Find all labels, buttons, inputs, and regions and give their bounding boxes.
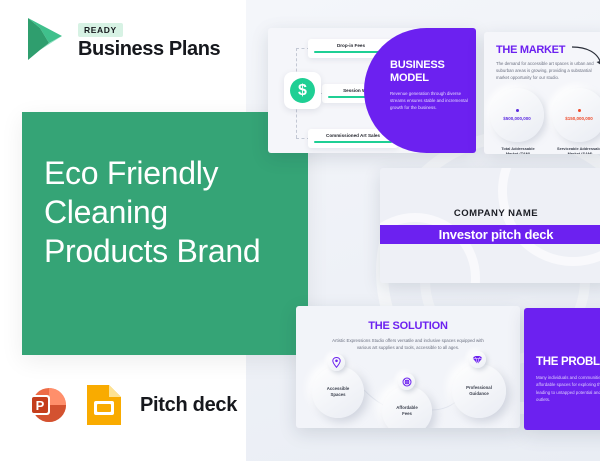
page-title: Eco Friendly Cleaning Products Brand (44, 154, 324, 271)
format-badges: P Pitch deck (24, 382, 237, 428)
slide-body: Revenue generation through diverse strea… (390, 90, 470, 111)
play-triangle-logo-icon (22, 14, 68, 64)
pitch-deck-title: Investor pitch deck (439, 227, 554, 242)
brand-logo[interactable]: READY Business Plans (22, 14, 220, 64)
slide-card-the-problem[interactable]: THE PROBLEM Many individuals and communi… (524, 308, 600, 430)
metric-dot-icon (578, 109, 581, 112)
slide-heading: THE PROBLEM (536, 356, 600, 368)
solution-nodes: Accessible Spaces Affordable Fees Profes… (308, 360, 508, 426)
card-shadow-layer (524, 311, 600, 430)
solution-node: Affordable Fees (382, 386, 432, 428)
slide-heading: THE MARKET (496, 44, 565, 56)
slide-card-the-solution[interactable]: THE SOLUTION Artistic Expressions Studio… (296, 306, 520, 428)
metric-caption: Serviceable Addressable Market (SAM) (552, 146, 600, 154)
pitch-deck-band: Investor pitch deck (380, 225, 600, 244)
svg-text:P: P (36, 398, 45, 413)
diamond-gem-icon (469, 351, 486, 368)
dollar-sign-icon: $ (284, 72, 321, 109)
company-name: COMPANY NAME (380, 208, 600, 219)
market-metric: $150,000,000 Serviceable Addressable Mar… (552, 88, 600, 154)
slide-body: Many individuals and communities lack ac… (536, 374, 600, 404)
node-label: Professional Guidance (466, 385, 492, 397)
slide-heading: BUSINESS MODEL (390, 59, 470, 85)
brand-logo-text: READY Business Plans (78, 18, 220, 60)
metric-value: $500,000,000 (503, 116, 531, 121)
slide-body: The demand for accessible art spaces in … (496, 60, 596, 81)
item-label: Commissioned Art Sales (314, 133, 392, 138)
slide-heading: THE SOLUTION (296, 320, 520, 332)
node-label: Accessible Spaces (327, 386, 349, 398)
poster-canvas: READY Business Plans Eco Friendly Cleani… (0, 0, 600, 461)
powerpoint-icon: P (24, 382, 70, 428)
metric-dot-icon (516, 109, 519, 112)
slide-card-business-model[interactable]: Drop-in Fees Session Workshops Commissio… (268, 28, 476, 153)
hero-panel: Eco Friendly Cleaning Products Brand (22, 112, 308, 355)
item-label: Drop-in Fees (314, 43, 388, 48)
slide-card-the-market[interactable]: THE MARKET The demand for accessible art… (484, 32, 600, 154)
format-label: Pitch deck (140, 394, 237, 417)
metric-value: $150,000,000 (565, 116, 593, 121)
market-metric: $500,000,000 Total Addressable Market (T… (490, 88, 546, 154)
market-metrics: $500,000,000 Total Addressable Market (T… (490, 88, 600, 154)
slide-card-investor-pitch[interactable]: COMPANY NAME Investor pitch deck (380, 168, 600, 283)
location-pin-icon (328, 354, 345, 371)
solution-node: Professional Guidance (452, 364, 506, 418)
slide-body: Artistic Expressions Studio offers versa… (332, 337, 484, 352)
metric-caption: Total Addressable Market (TAM) (490, 146, 546, 154)
ready-badge: READY (78, 23, 123, 37)
node-label: Affordable Fees (396, 405, 418, 417)
brand-name: Business Plans (78, 39, 220, 60)
target-circle-icon (398, 373, 415, 390)
decorative-ring (380, 213, 480, 283)
solution-node: Accessible Spaces (312, 366, 364, 418)
underline-bar (314, 141, 392, 143)
google-slides-icon (84, 382, 124, 428)
